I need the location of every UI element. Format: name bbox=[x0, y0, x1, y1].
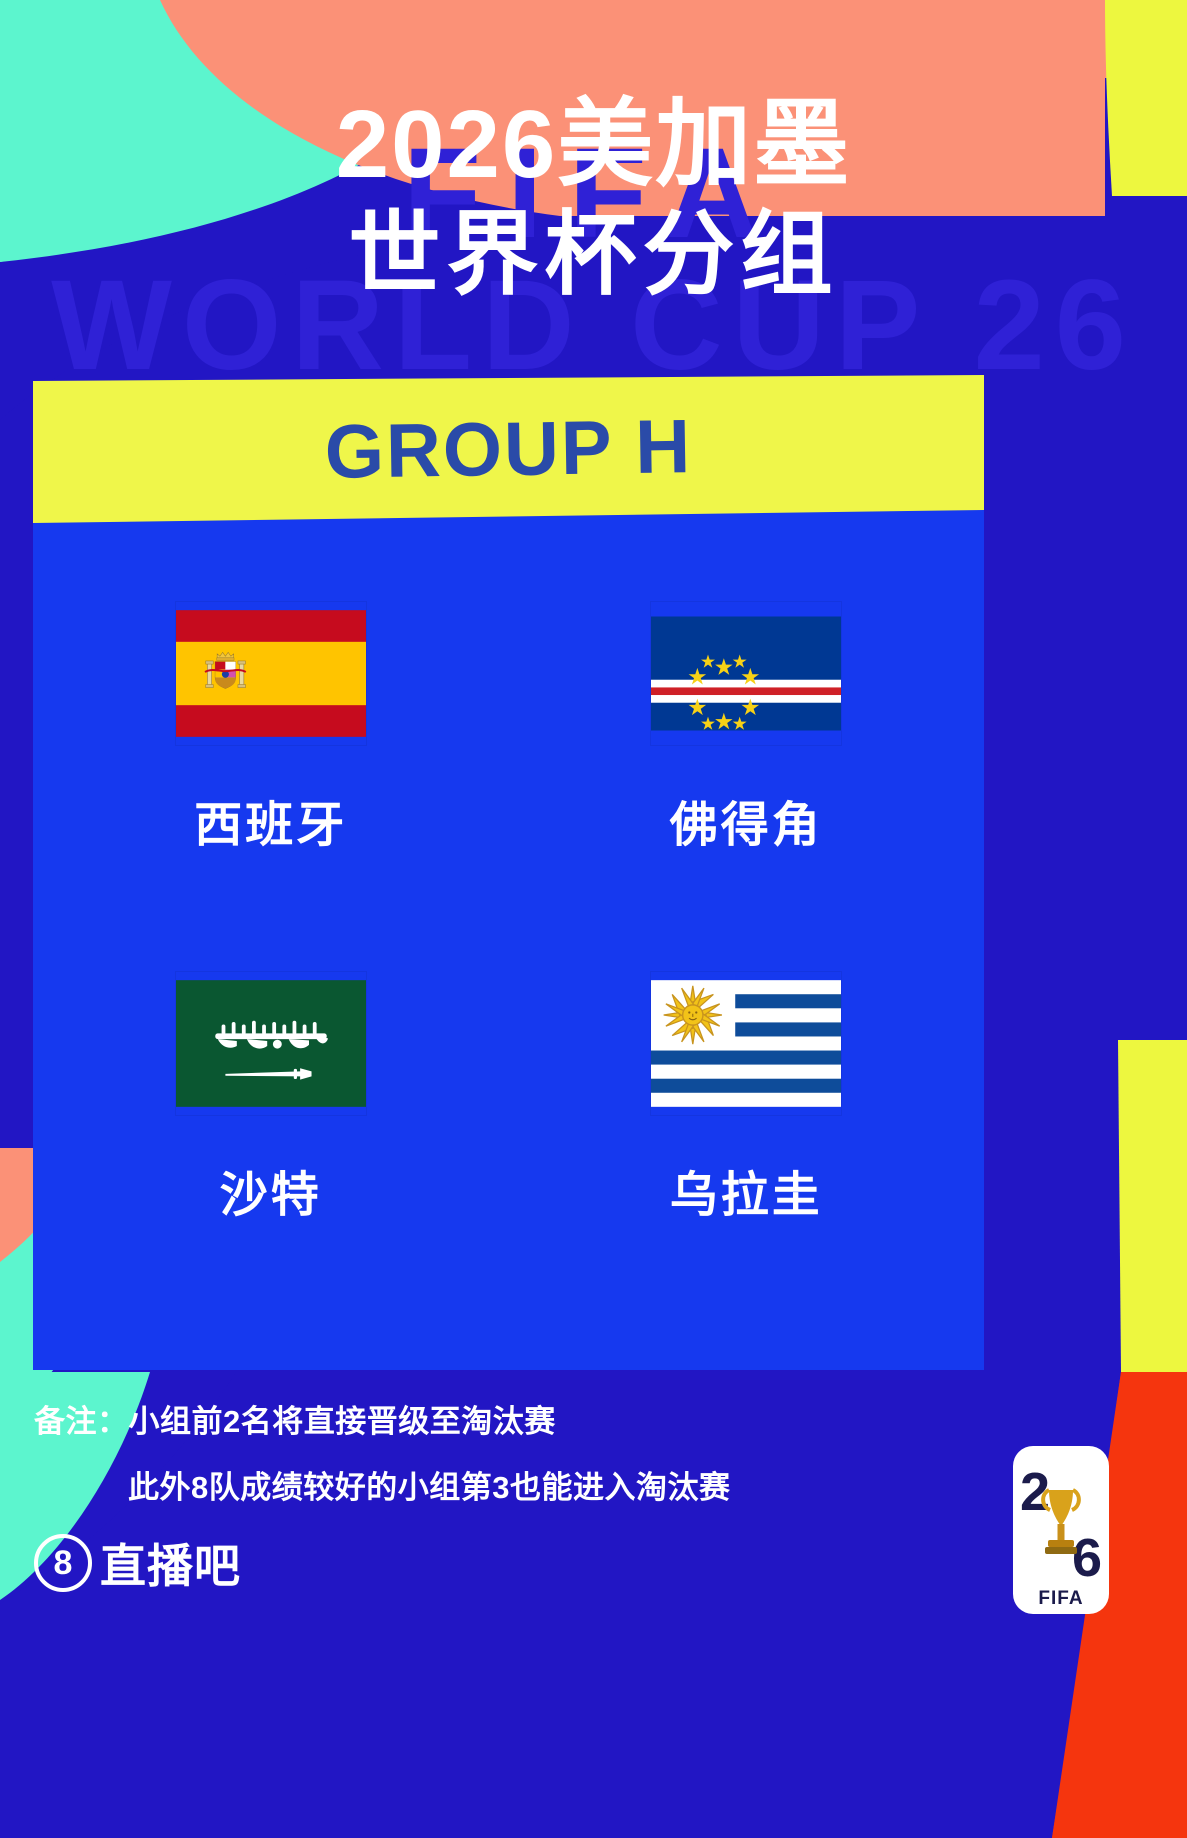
team-name: 乌拉圭 bbox=[670, 1155, 823, 1225]
team-card[interactable]: 乌拉圭 bbox=[509, 930, 985, 1300]
footer: 备注：小组前2名将直接晋级至淘汰赛 此外8队成绩较好的小组第3也能进入淘汰赛 8… bbox=[0, 1372, 1187, 1838]
svg-text:FIFA: FIFA bbox=[1038, 1588, 1083, 1609]
note-line-1: 备注：小组前2名将直接晋级至淘汰赛 bbox=[34, 1396, 556, 1441]
poster-title: 2026美加墨 世界杯分组 bbox=[0, 88, 1187, 310]
brand-logo[interactable]: 8 直播吧 bbox=[34, 1530, 241, 1596]
title-line-2: 世界杯分组 bbox=[0, 201, 1187, 310]
world-cup-group-poster: FIFA WORLD CUP 26 2026美加墨 世界杯分组 GROUP H bbox=[0, 0, 1187, 1838]
cape-verde-flag bbox=[651, 602, 841, 745]
saudi-arabia-flag bbox=[176, 972, 366, 1115]
team-name: 沙特 bbox=[220, 1155, 322, 1225]
uruguay-flag bbox=[651, 972, 841, 1115]
group-title: GROUP H bbox=[32, 368, 985, 531]
brand-name: 直播吧 bbox=[100, 1530, 241, 1596]
team-name: 佛得角 bbox=[670, 785, 823, 855]
brand-mark-icon: 8 bbox=[34, 1534, 92, 1592]
note-line-2: 此外8队成绩较好的小组第3也能进入淘汰赛 bbox=[128, 1462, 730, 1507]
team-name: 西班牙 bbox=[194, 785, 347, 855]
svg-text:6: 6 bbox=[1072, 1528, 1102, 1588]
group-banner: GROUP H bbox=[33, 375, 984, 523]
teams-grid: 西班牙 bbox=[33, 560, 984, 1300]
spain-flag bbox=[176, 602, 366, 745]
title-line-1: 2026美加墨 bbox=[0, 88, 1187, 201]
fifa-world-cup-logo-icon: 2 6 FIFA bbox=[1009, 1444, 1113, 1616]
team-card[interactable]: 佛得角 bbox=[509, 560, 985, 930]
team-card[interactable]: 西班牙 bbox=[33, 560, 509, 930]
team-card[interactable]: 沙特 bbox=[33, 930, 509, 1300]
